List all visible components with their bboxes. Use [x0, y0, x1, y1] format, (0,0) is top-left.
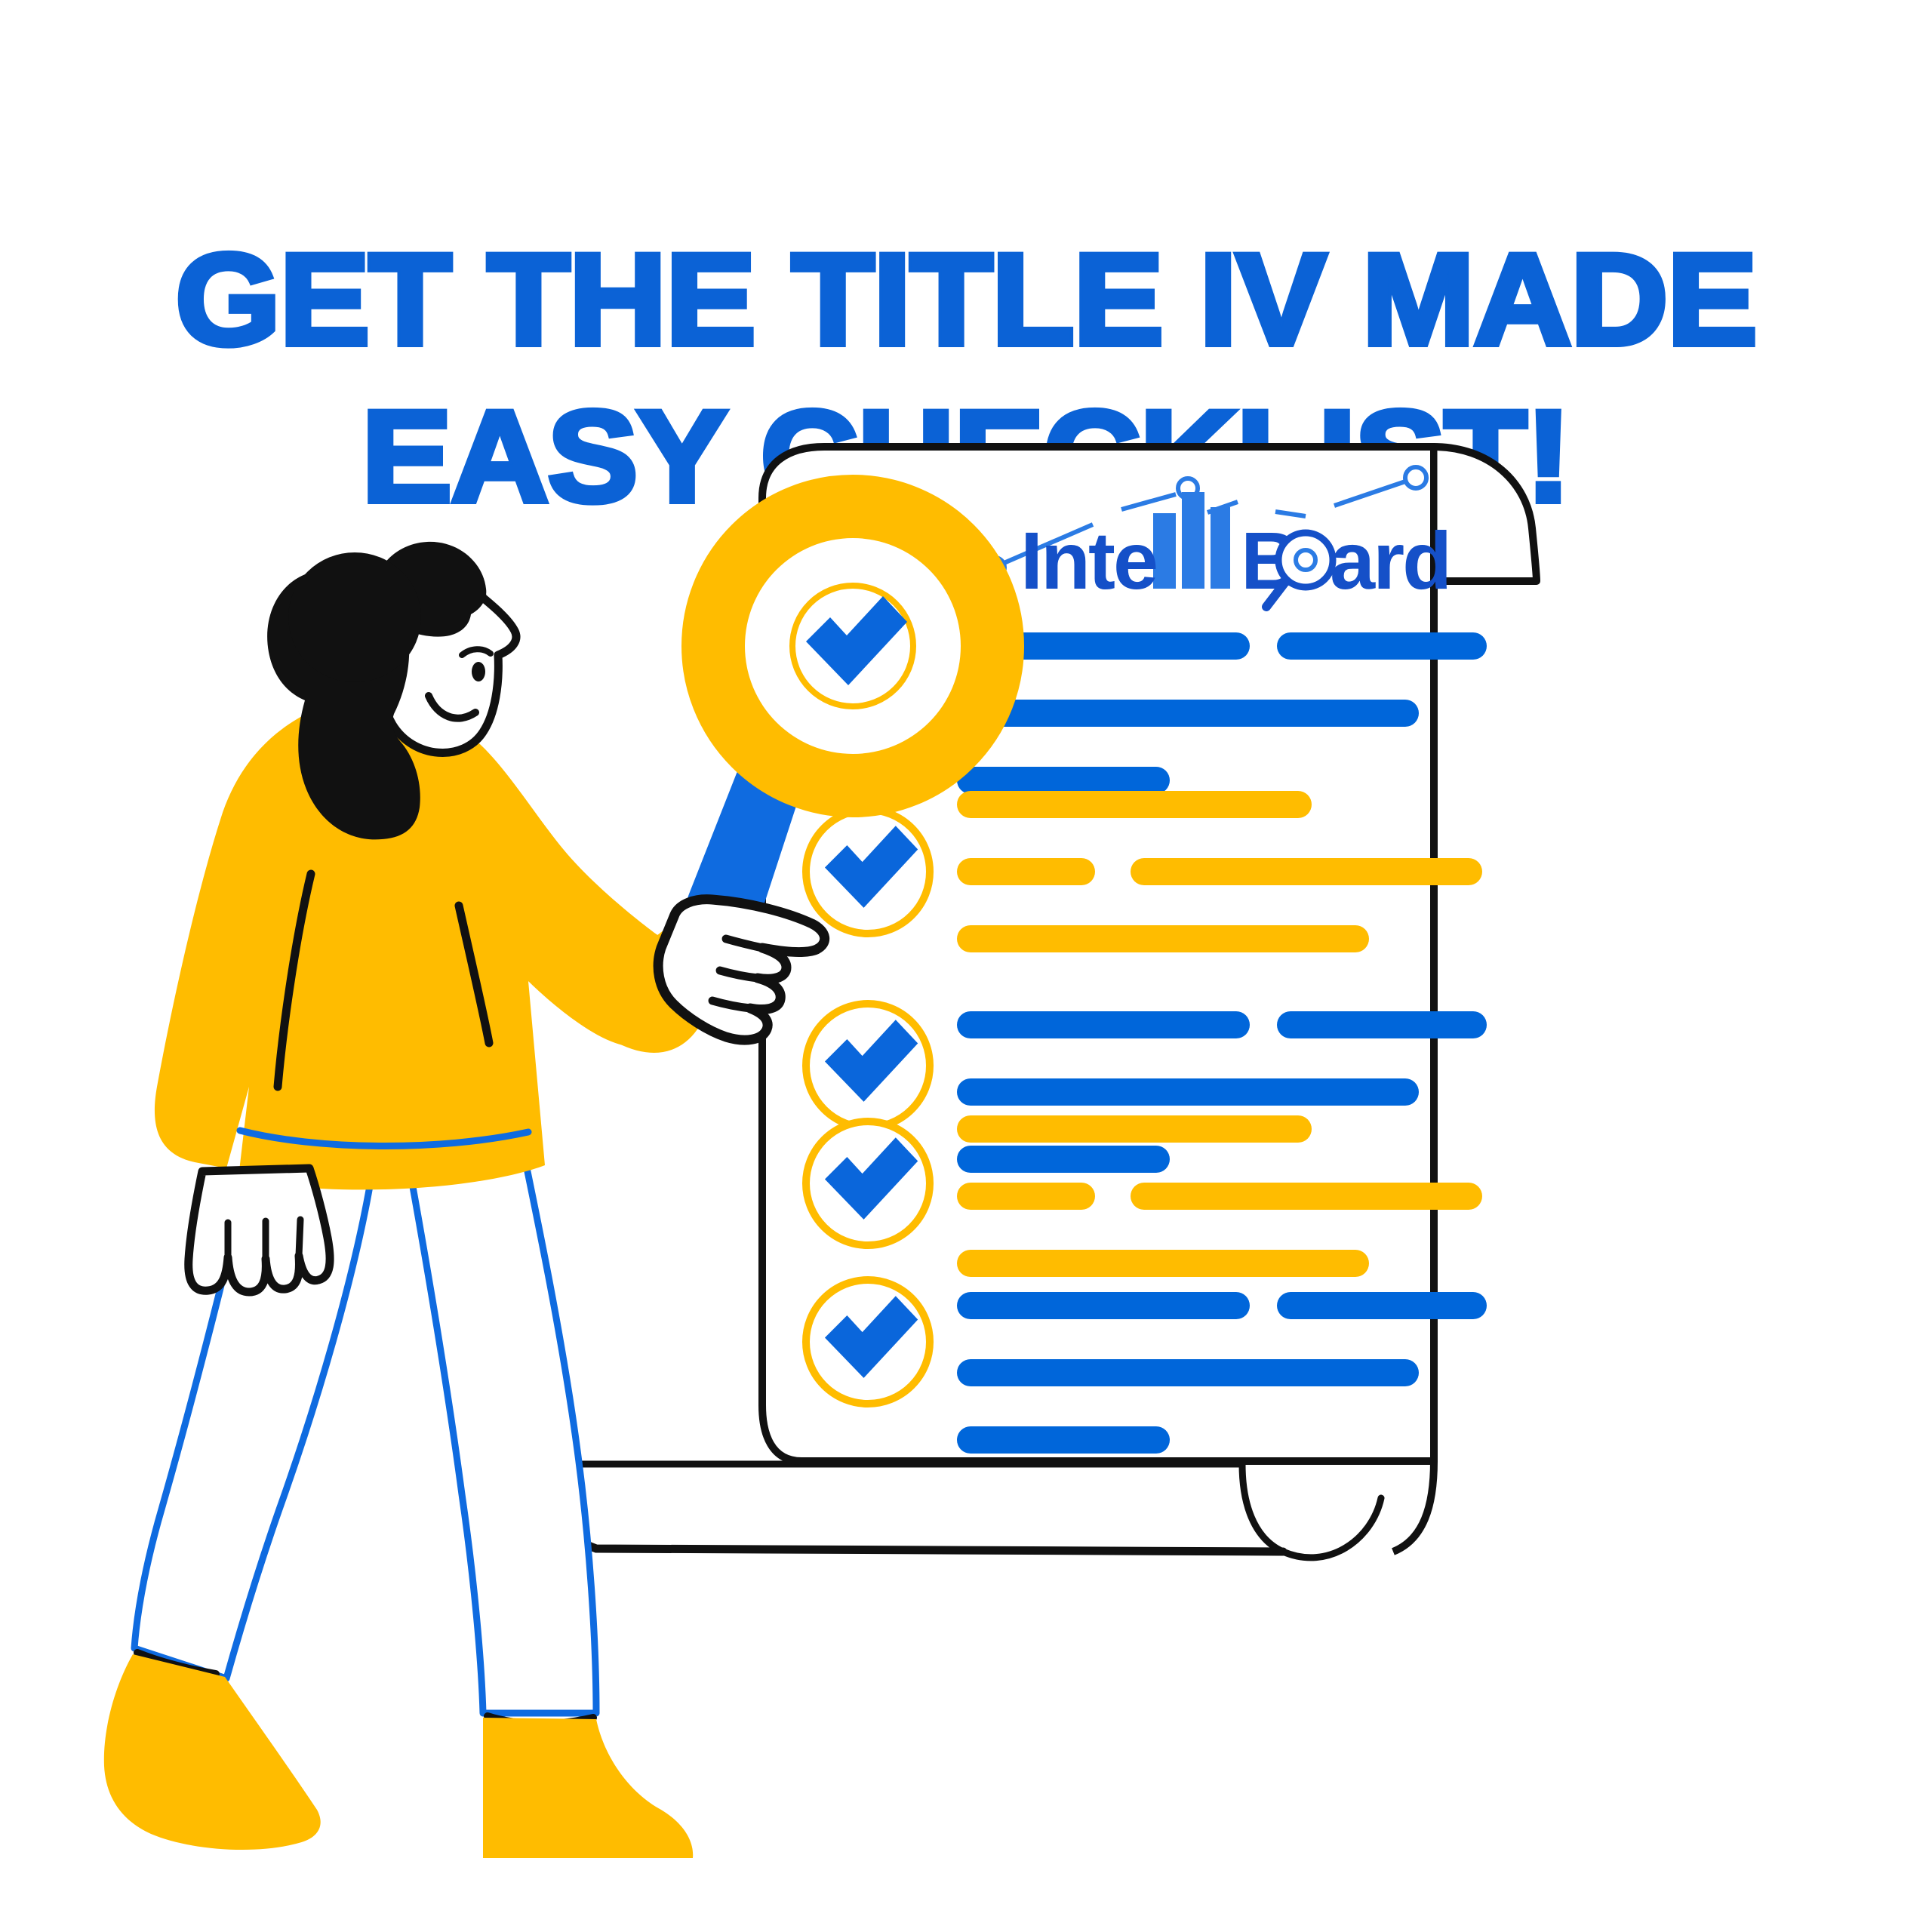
character-woman: [104, 542, 717, 1858]
text-line: [1277, 1292, 1487, 1319]
text-line: [957, 791, 1312, 818]
text-line: [1131, 1183, 1482, 1210]
text-line: [957, 925, 1369, 952]
text-line: [957, 700, 1419, 727]
logo-text-ard: ard: [1330, 515, 1450, 606]
text-line: [1277, 632, 1487, 660]
logo-bar-3: [1211, 507, 1230, 589]
shoe-front: [483, 1718, 693, 1858]
logo-search-icon-lens: [1296, 550, 1315, 570]
hair-bun: [288, 552, 421, 682]
logo-node-right: [1405, 467, 1426, 488]
text-line: [957, 1250, 1369, 1277]
scroll-bottom-roll-right: [1393, 1461, 1434, 1552]
illustration: Inte B ard: [0, 0, 1932, 1932]
text-line: [957, 1078, 1419, 1106]
text-line: [1277, 1011, 1487, 1038]
text-line: [957, 1426, 1170, 1454]
text-line: [957, 1115, 1312, 1143]
text-line: [957, 1146, 1170, 1173]
text-line: [1131, 858, 1482, 885]
text-line: [957, 767, 1170, 794]
finger-line: [299, 1220, 300, 1256]
text-line: [957, 858, 1095, 885]
text-line: [957, 1183, 1095, 1210]
shoe-back: [104, 1654, 321, 1850]
hand-left: [189, 1168, 330, 1292]
poster-canvas: GET THE TITLE IV MADE EASY CHECKLIST!: [0, 0, 1932, 1932]
eye: [472, 662, 485, 681]
logo-text-intelli-prefix: Inte: [1020, 515, 1156, 606]
logo-bar-2: [1182, 492, 1204, 589]
sweater: [155, 699, 717, 1189]
text-line: [957, 1292, 1250, 1319]
text-line: [957, 1011, 1250, 1038]
logo-bar-1: [1153, 513, 1176, 589]
text-line: [957, 1359, 1419, 1386]
scroll-bottom-curl-right: [555, 1464, 1381, 1558]
